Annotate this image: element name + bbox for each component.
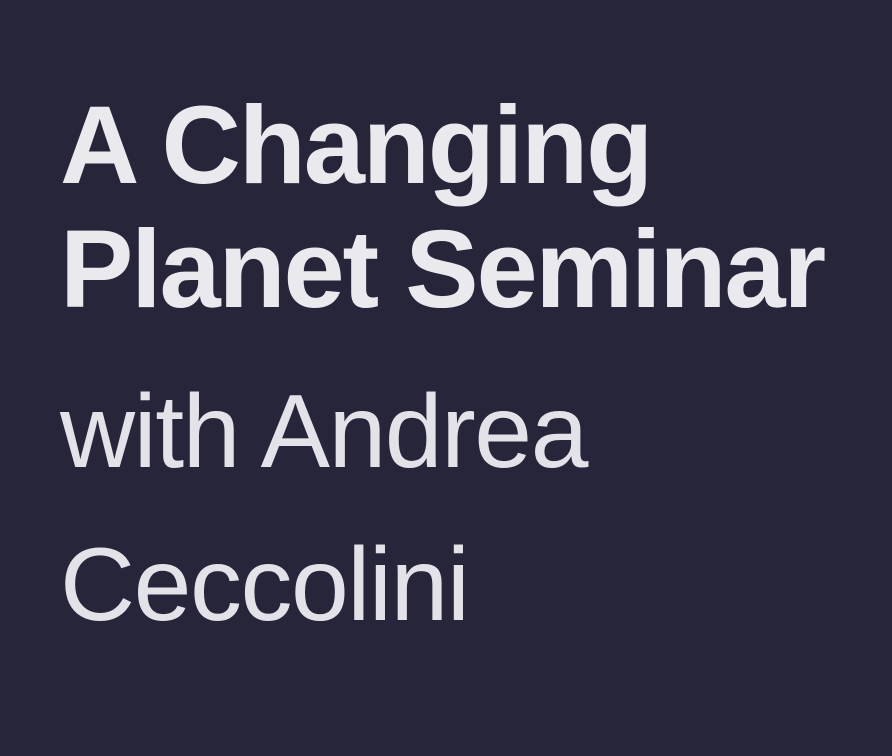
seminar-title-slide: A Changing Planet Seminar with Andrea Ce…: [0, 0, 892, 756]
page-title: A Changing Planet Seminar: [60, 84, 840, 332]
title-block: A Changing Planet Seminar with Andrea Ce…: [60, 84, 860, 662]
speaker-subtitle: with Andrea Ceccolini: [60, 356, 700, 662]
